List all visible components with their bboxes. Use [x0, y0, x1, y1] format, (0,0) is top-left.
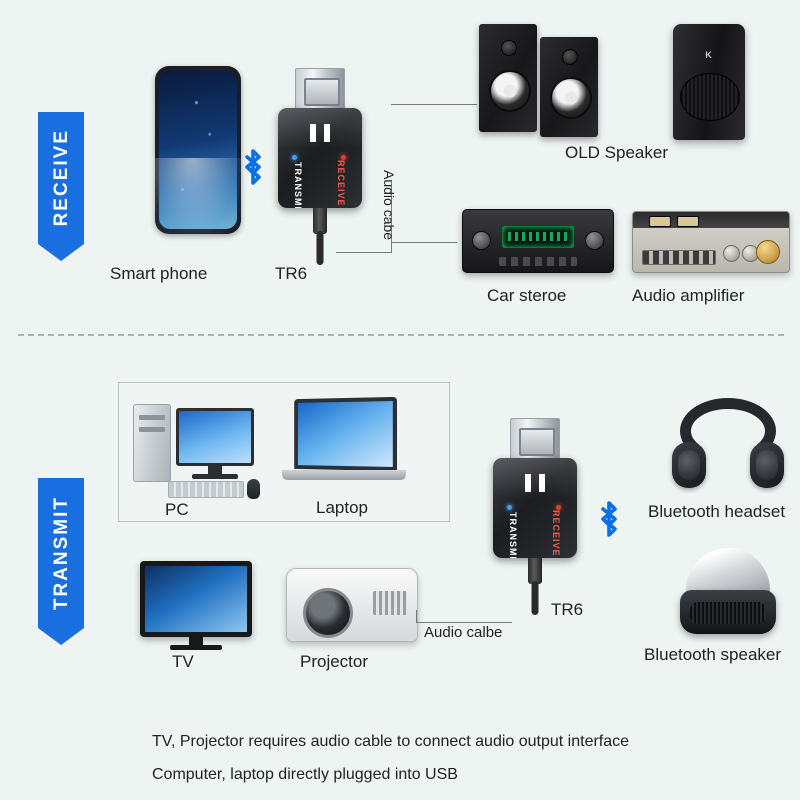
- connector-line-cable-transmit: [416, 622, 512, 623]
- dongle-transmit-text: TRANSMIT: [293, 162, 303, 208]
- tower-speaker-grill: [680, 73, 740, 121]
- tv-screen: [145, 566, 247, 632]
- audio-amplifier: [632, 211, 790, 273]
- connector-line-to-cable: [336, 252, 392, 253]
- pc-monitor: [176, 408, 254, 466]
- tv-neck: [189, 637, 203, 645]
- pause-icon: [310, 124, 330, 142]
- section-divider: [18, 334, 784, 336]
- car-stereo-knob-right: [585, 231, 604, 250]
- phone-screen: [159, 71, 237, 229]
- pc-monitor-screen: [179, 411, 251, 463]
- amplifier-button-strip: [642, 250, 716, 265]
- tv-base: [170, 645, 222, 650]
- pc-drive-slot: [139, 427, 165, 432]
- connector-line-to-car-stereo: [391, 242, 457, 243]
- speaker-cone-icon: [550, 77, 592, 119]
- tv-caption: TV: [172, 652, 194, 672]
- amplifier-vu-right: [677, 216, 699, 227]
- bluetooth-icon: [240, 148, 266, 192]
- speaker-tweeter-icon: [562, 49, 578, 65]
- tr6-caption-transmit: TR6: [551, 600, 583, 620]
- pc-monitor-base: [192, 474, 238, 479]
- pc-keyboard: [168, 481, 244, 498]
- tower-speaker: K: [673, 24, 745, 140]
- speaker-cone-icon: [489, 70, 531, 112]
- headset-cup-left: [672, 442, 706, 488]
- smart-phone: [155, 66, 241, 234]
- tower-speaker-badge: K: [705, 50, 713, 60]
- old-speaker-caption: OLD Speaker: [565, 143, 668, 163]
- old-speaker-left: [479, 24, 537, 132]
- dongle-receive-text: RECEIVE: [551, 510, 561, 557]
- car-stereo-buttons: [499, 257, 577, 266]
- speaker-body: [680, 590, 776, 634]
- car-stereo-knob-left: [472, 231, 491, 250]
- laptop-lid: [294, 397, 397, 471]
- laptop-caption: Laptop: [316, 498, 368, 518]
- audio-cable: [532, 581, 539, 615]
- ribbon-receive: RECEIVE: [38, 112, 84, 244]
- car-stereo-display: [502, 226, 574, 248]
- note-line-1: TV, Projector requires audio cable to co…: [152, 733, 629, 751]
- amplifier-volume-knob: [756, 240, 780, 264]
- blue-led-icon: [292, 155, 297, 160]
- pc-tower: [133, 404, 171, 482]
- projector-caption: Projector: [300, 652, 368, 672]
- speaker-tweeter-icon: [501, 40, 517, 56]
- bluetooth-icon: [596, 500, 622, 542]
- tr6-caption-receive: TR6: [275, 264, 307, 284]
- projector-lens-icon: [303, 588, 353, 638]
- dongle-receive-text: RECEIVE: [336, 160, 346, 207]
- bluetooth-headset-caption: Bluetooth headset: [648, 502, 785, 522]
- laptop-screen: [298, 401, 393, 467]
- audio-amplifier-caption: Audio amplifier: [632, 286, 744, 306]
- diagram-canvas: RECEIVE Smart phone TRANSMIT RECEIVE TR6…: [0, 0, 800, 800]
- car-stereo-caption: Car steroe: [487, 286, 566, 306]
- audio-cable: [317, 231, 324, 265]
- pause-icon: [525, 474, 545, 492]
- audio-cable-label-receive: Audio cabe: [381, 170, 397, 240]
- pc-caption: PC: [165, 500, 189, 520]
- projector-vent: [373, 591, 407, 615]
- bluetooth-speaker-caption: Bluetooth speaker: [644, 645, 781, 665]
- blue-led-icon: [507, 505, 512, 510]
- headset-cup-right: [750, 442, 784, 488]
- amplifier-knob-1: [723, 245, 740, 262]
- laptop-base: [282, 470, 406, 480]
- dongle-body: TRANSMIT RECEIVE: [278, 108, 362, 208]
- car-stereo: [462, 209, 614, 273]
- audio-cable-label-transmit: Audio calbe: [424, 624, 502, 641]
- tr6-dongle-transmit: TRANSMIT RECEIVE: [487, 418, 583, 618]
- tr6-dongle-receive: TRANSMIT RECEIVE: [272, 68, 368, 268]
- pc-monitor-neck: [208, 466, 222, 474]
- tv: [140, 561, 252, 637]
- smart-phone-caption: Smart phone: [110, 264, 207, 284]
- ribbon-receive-label: RECEIVE: [52, 129, 71, 226]
- old-speaker-right: [540, 37, 598, 137]
- connector-line-cable-tick: [416, 610, 417, 623]
- bluetooth-speaker: [680, 548, 776, 634]
- ribbon-transmit: TRANSMIT: [38, 478, 84, 628]
- projector: [286, 568, 418, 642]
- bluetooth-headset: [672, 398, 784, 494]
- amplifier-vu-left: [649, 216, 671, 227]
- speaker-grill: [690, 602, 766, 624]
- dongle-body: TRANSMIT RECEIVE: [493, 458, 577, 558]
- pc-drive-slot: [139, 415, 165, 420]
- phone-screen-glow: [155, 158, 241, 234]
- connector-line-to-old-speaker: [391, 104, 477, 105]
- pc-mouse: [247, 479, 260, 499]
- ribbon-transmit-label: TRANSMIT: [52, 496, 71, 610]
- note-line-2: Computer, laptop directly plugged into U…: [152, 766, 458, 784]
- dongle-transmit-text: TRANSMIT: [508, 512, 518, 558]
